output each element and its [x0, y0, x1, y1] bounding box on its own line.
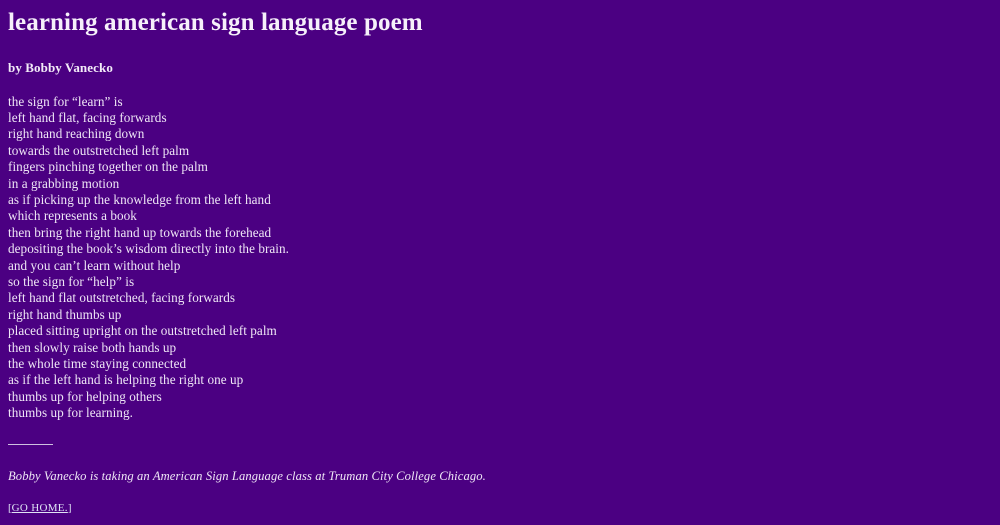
- poem-line: fingers pinching together on the palm: [8, 159, 992, 175]
- poem-line: the sign for “learn” is: [8, 94, 992, 110]
- divider-wrap: [8, 444, 992, 456]
- author-bio: Bobby Vanecko is taking an American Sign…: [8, 468, 992, 484]
- home-link-wrap: [GO HOME.]: [8, 502, 992, 514]
- byline: by Bobby Vanecko: [8, 60, 992, 76]
- poem-line: then slowly raise both hands up: [8, 340, 992, 356]
- poem-line: left hand flat, facing forwards: [8, 110, 992, 126]
- poem-line: which represents a book: [8, 208, 992, 224]
- poem-line: left hand flat outstretched, facing forw…: [8, 290, 992, 306]
- poem-line: so the sign for “help” is: [8, 274, 992, 290]
- poem-line: thumbs up for learning.: [8, 405, 992, 421]
- poem-line: placed sitting upright on the outstretch…: [8, 323, 992, 339]
- poem-line: right hand thumbs up: [8, 307, 992, 323]
- section-divider: [8, 444, 53, 445]
- page-title: learning american sign language poem: [8, 6, 992, 38]
- poem-line: thumbs up for helping others: [8, 389, 992, 405]
- poem-line: the whole time staying connected: [8, 356, 992, 372]
- poem-line: depositing the book’s wisdom directly in…: [8, 241, 992, 257]
- poem-line: towards the outstretched left palm: [8, 143, 992, 159]
- poem-page: learning american sign language poem by …: [0, 0, 1000, 525]
- poem-line: in a grabbing motion: [8, 176, 992, 192]
- bracket-close: ]: [68, 502, 72, 514]
- poem-line: and you can’t learn without help: [8, 258, 992, 274]
- poem-line: right hand reaching down: [8, 126, 992, 142]
- poem-line: as if the left hand is helping the right…: [8, 372, 992, 388]
- poem-line: then bring the right hand up towards the…: [8, 225, 992, 241]
- go-home-link[interactable]: GO HOME.: [12, 502, 68, 514]
- poem-body: the sign for “learn” is left hand flat, …: [8, 94, 992, 422]
- poem-line: as if picking up the knowledge from the …: [8, 192, 992, 208]
